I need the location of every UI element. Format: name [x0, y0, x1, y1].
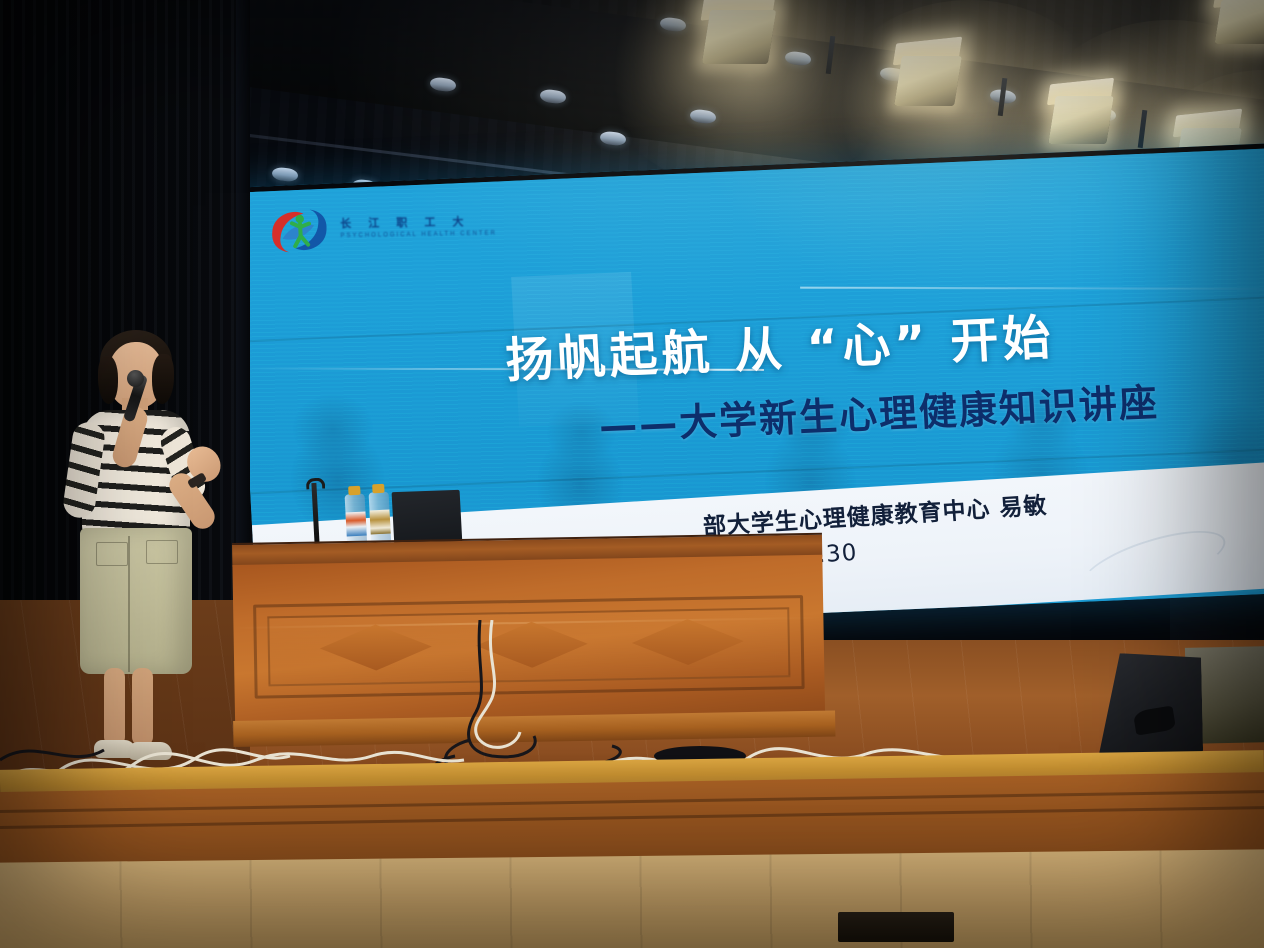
logo-english-text: PSYCHOLOGICAL HEALTH CENTER: [340, 231, 497, 240]
monitor-speaker-port: [1133, 706, 1176, 736]
slide-logo: 长 江 职 工 大 PSYCHOLOGICAL HEALTH CENTER: [267, 200, 498, 256]
stage-front-wall: [0, 849, 1264, 948]
stage-photograph: 长 江 职 工 大 PSYCHOLOGICAL HEALTH CENTER 扬帆…: [0, 0, 1264, 948]
stage-light-icon: [706, 10, 772, 64]
center-emblem-icon: [267, 207, 331, 256]
stage-light-icon: [1218, 0, 1264, 44]
stage-monitor-speaker: [1097, 642, 1264, 757]
stage-light-icon: [898, 56, 958, 106]
logo-chinese-text: 长 江 职 工 大: [340, 213, 497, 232]
monitor-speaker-wedge: [1097, 652, 1203, 754]
front-wall-vent: [838, 912, 954, 942]
slide-logo-text: 长 江 职 工 大 PSYCHOLOGICAL HEALTH CENTER: [340, 213, 497, 240]
stage-light-icon: [1052, 96, 1110, 144]
